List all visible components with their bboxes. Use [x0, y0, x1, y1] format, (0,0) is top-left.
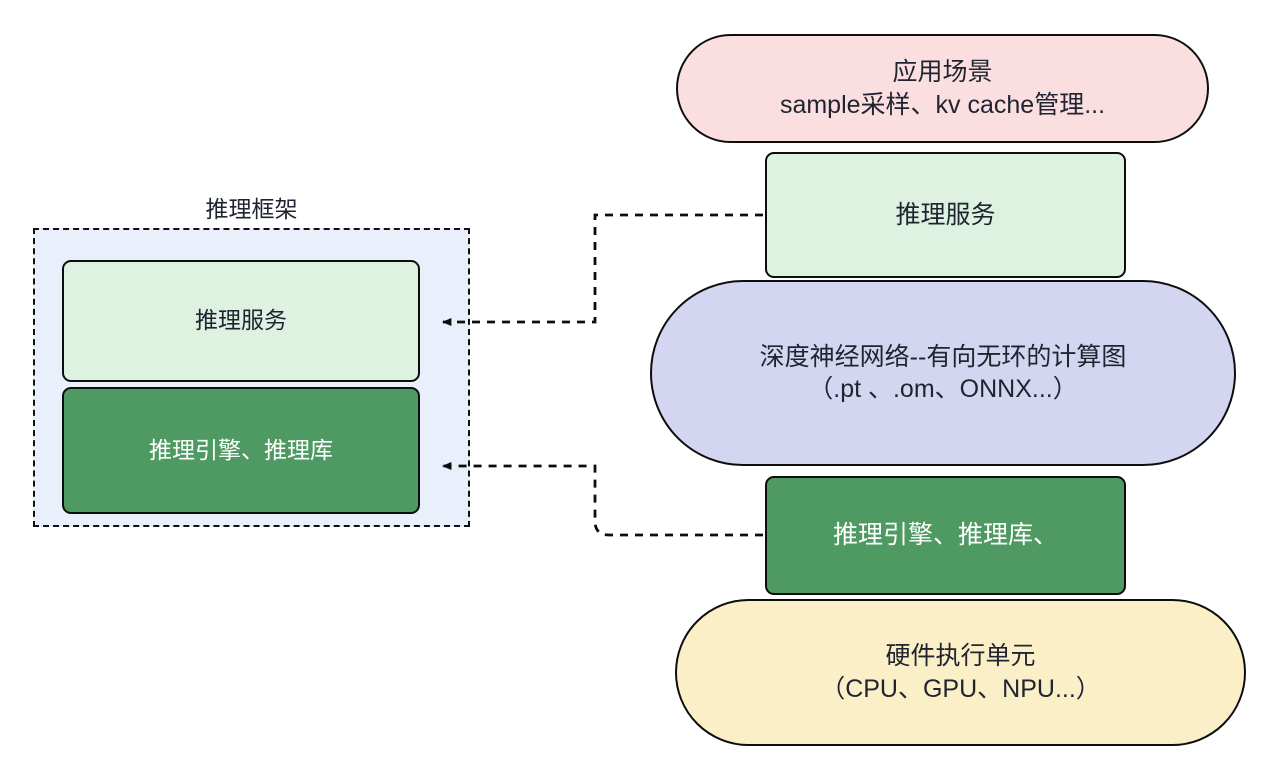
left-box-inference-service-label: 推理服务 [195, 306, 287, 336]
hardware-unit-line-2: （CPU、GPU、NPU...） [820, 673, 1101, 706]
left-box-inference-engine[interactable]: 推理引擎、推理库 [62, 387, 420, 514]
dnn-graph-line-2: （.pt 、.om、ONNX...） [808, 373, 1077, 406]
stack-box-dnn-graph[interactable]: 深度神经网络--有向无环的计算图 （.pt 、.om、ONNX...） [650, 280, 1236, 466]
left-box-inference-engine-label: 推理引擎、推理库 [149, 436, 333, 466]
app-scenario-line-1: 应用场景 [892, 56, 992, 89]
stack-box-hardware-unit[interactable]: 硬件执行单元 （CPU、GPU、NPU...） [675, 599, 1246, 746]
framework-group-label: 推理框架 [33, 190, 470, 224]
stack-box-inference-engine[interactable]: 推理引擎、推理库、 [765, 476, 1126, 595]
stack-box-inference-service[interactable]: 推理服务 [765, 152, 1126, 278]
dnn-graph-line-1: 深度神经网络--有向无环的计算图 [760, 341, 1127, 374]
hardware-unit-line-1: 硬件执行单元 [885, 640, 1035, 673]
connector-inference-engine [443, 466, 763, 535]
left-box-inference-service[interactable]: 推理服务 [62, 260, 420, 382]
diagram-canvas: 推理框架 推理服务 推理引擎、推理库 应用场景 sample采样、kv cach… [0, 0, 1280, 781]
app-scenario-line-2: sample采样、kv cache管理... [780, 89, 1105, 122]
inference-service-line-1: 推理服务 [895, 199, 995, 232]
stack-box-app-scenario[interactable]: 应用场景 sample采样、kv cache管理... [676, 34, 1209, 143]
inference-engine-line-1: 推理引擎、推理库、 [833, 519, 1058, 552]
